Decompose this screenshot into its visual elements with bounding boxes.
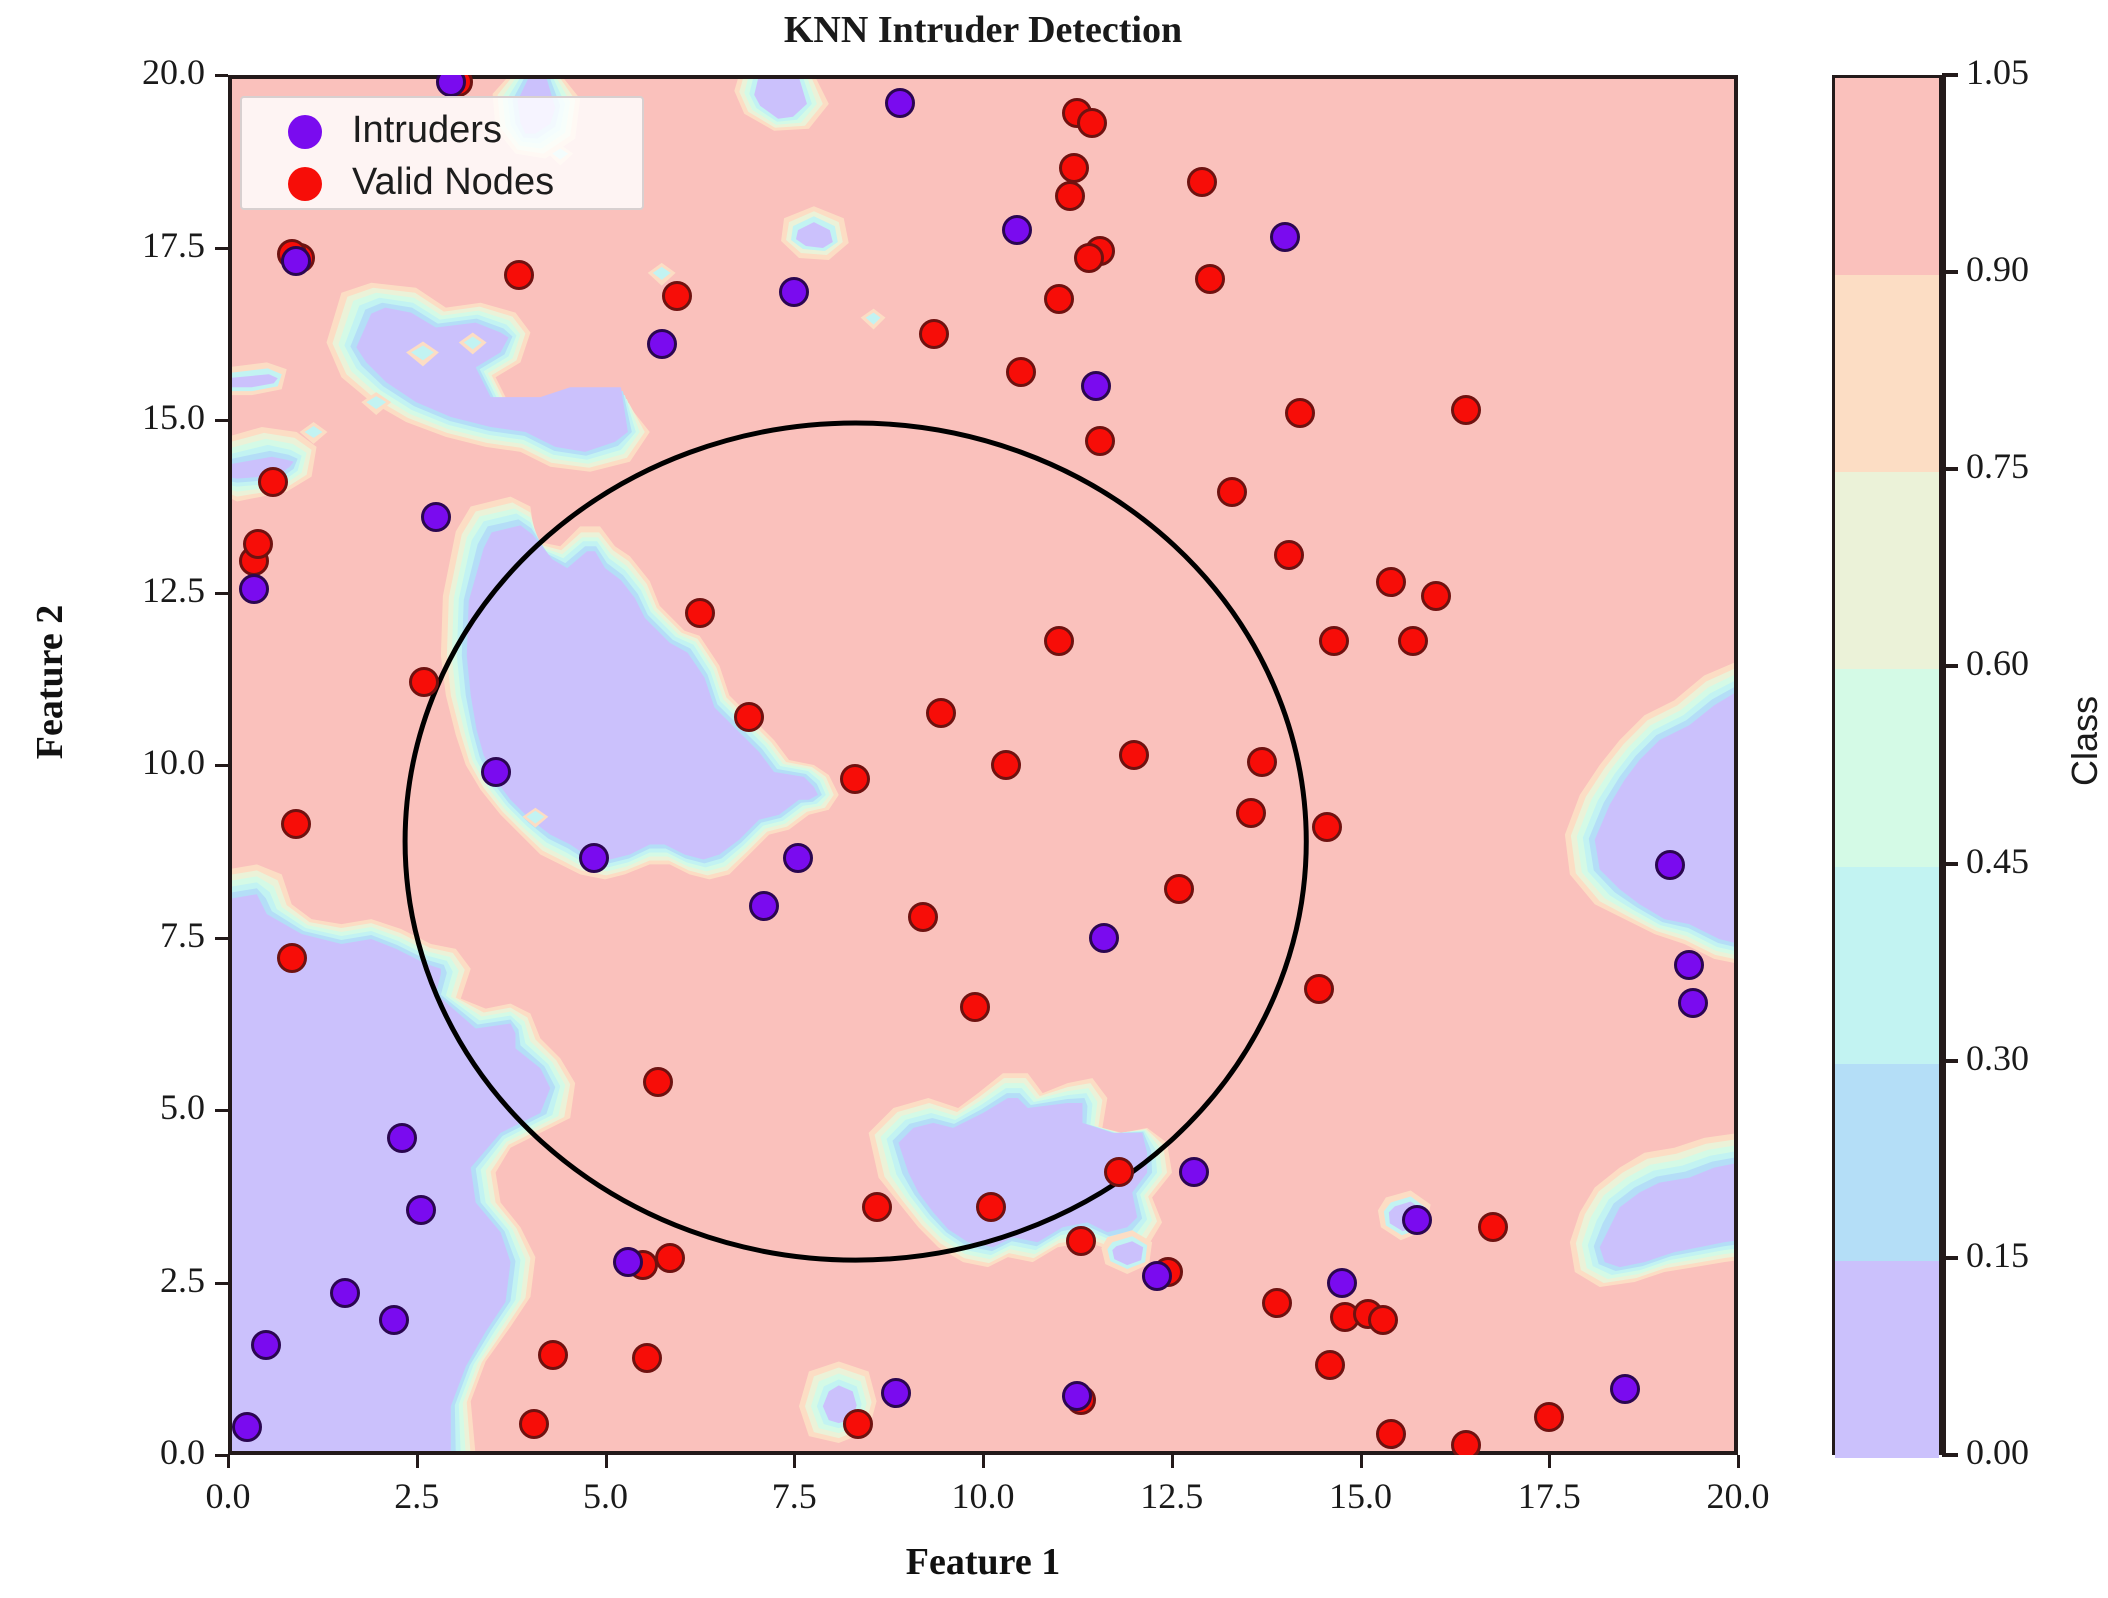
legend-row-intruders: Intruders [242, 104, 642, 159]
colorbar-band [1835, 472, 1939, 669]
colorbar-band [1835, 78, 1939, 275]
y-tick-label: 20.0 [55, 51, 205, 93]
legend-marker-valid-nodes [288, 167, 322, 201]
y-tick-label: 5.0 [55, 1086, 205, 1128]
colorbar-tick [1942, 1256, 1958, 1260]
x-tick-label: 5.0 [536, 1475, 676, 1517]
colorbar-tick [1942, 467, 1958, 471]
x-tick [1360, 1455, 1363, 1468]
y-axis-label: Feature 2 [28, 482, 72, 882]
y-tick [215, 937, 228, 940]
y-tick-label: 7.5 [55, 914, 205, 956]
figure-canvas: KNN Intruder Detection [0, 0, 2108, 1598]
colorbar [1832, 75, 1942, 1455]
colorbar-tick-label: 0.45 [1966, 840, 2029, 882]
y-tick-label: 15.0 [55, 396, 205, 438]
x-tick [793, 1455, 796, 1468]
colorbar-band [1835, 275, 1939, 472]
colorbar-tick-label: 1.05 [1966, 51, 2029, 93]
x-tick-label: 12.5 [1102, 1475, 1242, 1517]
y-tick [215, 1109, 228, 1112]
colorbar-tick [1942, 862, 1958, 866]
x-tick-label: 20.0 [1668, 1475, 1808, 1517]
legend-row-valid-nodes: Valid Nodes [242, 156, 642, 211]
colorbar-label: Class [2064, 591, 2106, 891]
decision-region-layer [232, 79, 1734, 1451]
legend-marker-intruders [288, 115, 322, 149]
colorbar-tick [1942, 73, 1958, 77]
colorbar-band [1835, 867, 1939, 1064]
x-tick [1737, 1455, 1740, 1468]
chart-title: KNN Intruder Detection [228, 6, 1738, 54]
colorbar-tick [1942, 1453, 1958, 1457]
colorbar-tick [1942, 1059, 1958, 1063]
y-tick-label: 0.0 [55, 1431, 205, 1473]
colorbar-tick-label: 0.30 [1966, 1037, 2029, 1079]
y-tick [215, 764, 228, 767]
colorbar-tick-label: 0.15 [1966, 1234, 2029, 1276]
y-tick [215, 592, 228, 595]
y-tick-label: 2.5 [55, 1259, 205, 1301]
colorbar-tick-label: 0.60 [1966, 642, 2029, 684]
x-tick [1171, 1455, 1174, 1468]
plot-area [228, 75, 1738, 1455]
colorbar-tick [1942, 270, 1958, 274]
y-tick [215, 74, 228, 77]
colorbar-tick-label: 0.75 [1966, 445, 2029, 487]
colorbar-tick-label: 0.00 [1966, 1431, 2029, 1473]
x-tick [605, 1455, 608, 1468]
x-tick-label: 0.0 [158, 1475, 298, 1517]
x-tick-label: 17.5 [1479, 1475, 1619, 1517]
x-tick-label: 2.5 [347, 1475, 487, 1517]
colorbar-tick-label: 0.90 [1966, 248, 2029, 290]
decision-regions [232, 79, 1734, 1451]
chart-legend: Intruders Valid Nodes [240, 96, 644, 210]
x-tick-label: 7.5 [724, 1475, 864, 1517]
x-axis-label: Feature 1 [228, 1540, 1738, 1584]
y-tick [215, 1454, 228, 1457]
colorbar-band [1835, 669, 1939, 866]
x-tick [416, 1455, 419, 1468]
colorbar-tick [1942, 664, 1958, 668]
y-tick-label: 12.5 [55, 569, 205, 611]
x-tick [1548, 1455, 1551, 1468]
colorbar-axis-line [1942, 75, 1946, 1455]
y-tick [215, 1282, 228, 1285]
x-tick-label: 10.0 [913, 1475, 1053, 1517]
y-tick [215, 419, 228, 422]
y-tick-label: 10.0 [55, 741, 205, 783]
x-tick-label: 15.0 [1291, 1475, 1431, 1517]
colorbar-band [1835, 1064, 1939, 1261]
y-tick [215, 247, 228, 250]
colorbar-band [1835, 1261, 1939, 1458]
x-tick [982, 1455, 985, 1468]
y-tick-label: 17.5 [55, 224, 205, 266]
legend-label-intruders: Intruders [352, 109, 502, 152]
legend-label-valid-nodes: Valid Nodes [352, 161, 554, 204]
